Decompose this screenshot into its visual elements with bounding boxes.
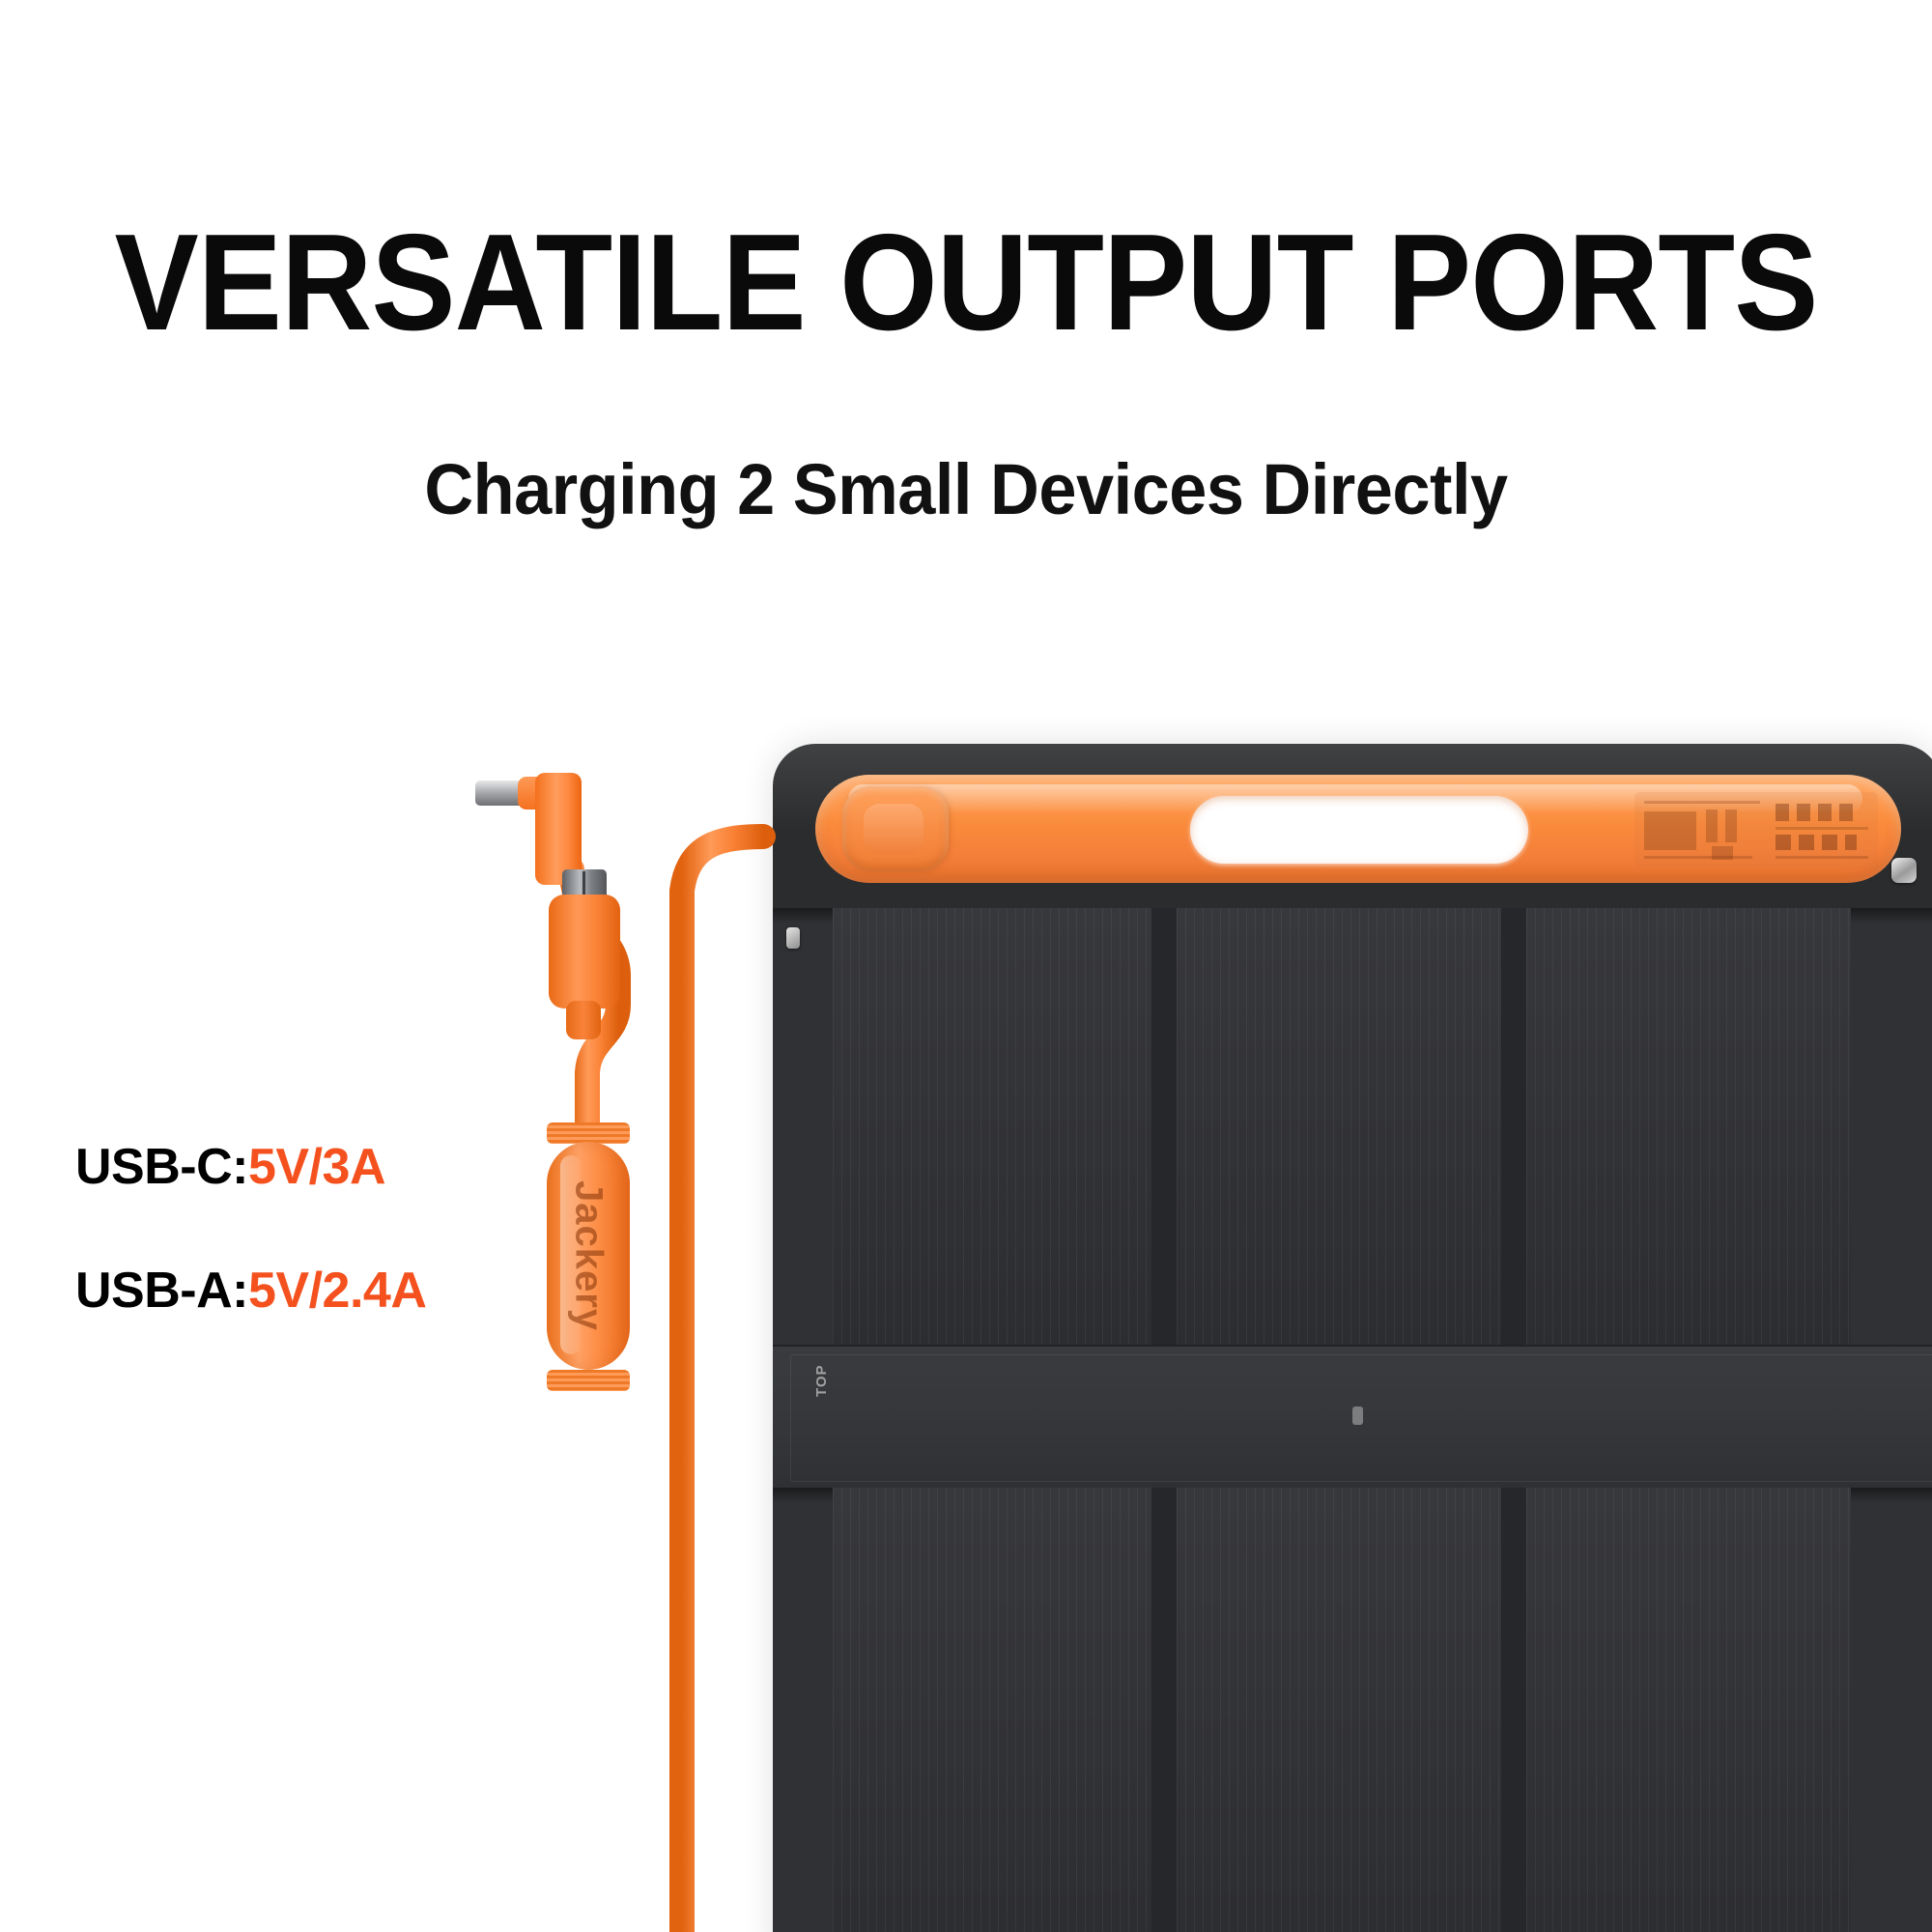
usb-connector-icon bbox=[541, 869, 634, 1043]
module-strain-relief-bottom bbox=[547, 1370, 630, 1391]
cable-assembly bbox=[0, 0, 1932, 1932]
panel-cable bbox=[682, 837, 763, 1932]
usb-connector-body bbox=[549, 895, 620, 1009]
module-strain-relief-top bbox=[547, 1122, 630, 1144]
jackery-inline-module: Jackery bbox=[547, 1142, 630, 1370]
dc-plug-body bbox=[535, 773, 582, 885]
usb-strain-relief bbox=[566, 1001, 601, 1039]
product-marketing-slide: VERSATILE OUTPUT PORTS Charging 2 Small … bbox=[0, 0, 1932, 1932]
brand-label: Jackery bbox=[567, 1180, 611, 1331]
